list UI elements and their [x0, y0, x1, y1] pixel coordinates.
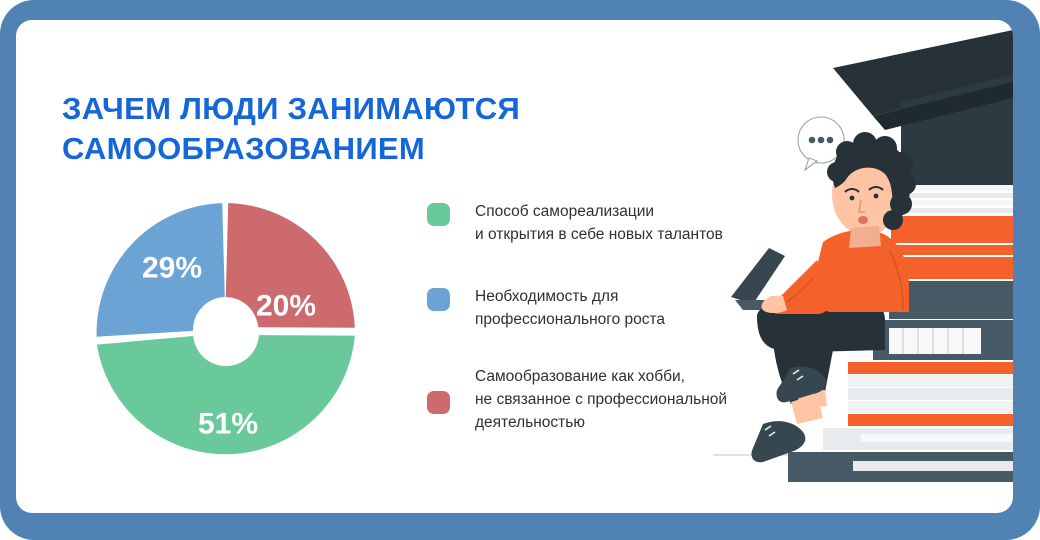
- legend-item-professional-growth[interactable]: Необходимость для профессионального рост…: [427, 285, 665, 331]
- donut-label-hobby: 20%: [256, 290, 316, 323]
- donut-label-professional-growth: 29%: [142, 252, 202, 285]
- illustration-svg: [713, 20, 1013, 513]
- slide-card: ЗАЧЕМ ЛЮДИ ЗАНИМАЮТСЯ САМООБРАЗОВАНИЕМ 2…: [16, 20, 1013, 513]
- legend-swatch-blue: [427, 288, 450, 311]
- donut-chart: 20% 51% 29%: [80, 187, 372, 479]
- illustration-woman-studying: [713, 20, 1013, 513]
- figure-torso: [761, 230, 909, 314]
- donut-center-hole: [193, 300, 259, 366]
- legend-item-self-realization[interactable]: Способ самореализации и открытия в себе …: [427, 200, 723, 246]
- donut-label-self-realization: 51%: [198, 408, 258, 441]
- book-stack-middle: [873, 320, 1013, 360]
- page-title: ЗАЧЕМ ЛЮДИ ЗАНИМАЮТСЯ САМООБРАЗОВАНИЕМ: [62, 89, 682, 169]
- legend-label-hobby: Самообразование как хобби, не связанное …: [475, 365, 727, 434]
- legend-label-professional-growth: Необходимость для профессионального рост…: [475, 285, 665, 331]
- outer-frame: ЗАЧЕМ ЛЮДИ ЗАНИМАЮТСЯ САМООБРАЗОВАНИЕМ 2…: [0, 0, 1040, 540]
- legend-label-self-realization: Способ самореализации и открытия в себе …: [475, 200, 723, 246]
- donut-chart-svg: 20% 51% 29%: [80, 187, 372, 479]
- legend-item-hobby[interactable]: Самообразование как хобби, не связанное …: [427, 365, 727, 434]
- legend-swatch-red: [427, 391, 450, 414]
- legend-swatch-green: [427, 203, 450, 226]
